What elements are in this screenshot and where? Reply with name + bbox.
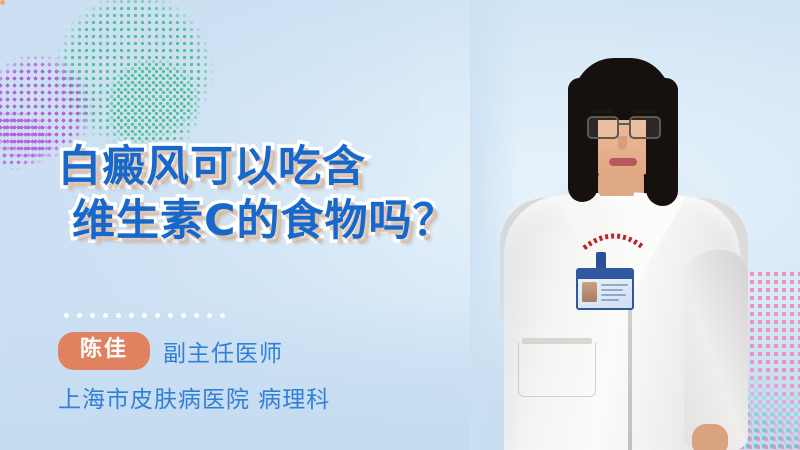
id-badge-text-lines xyxy=(601,284,628,304)
hand xyxy=(692,424,728,450)
orange-accent-dot-icon xyxy=(0,0,5,5)
separator-dot xyxy=(220,313,225,318)
glasses-icon xyxy=(586,116,658,136)
glasses-bridge xyxy=(617,123,629,125)
separator-dot xyxy=(90,313,95,318)
coat-lapel-right xyxy=(626,192,686,307)
eyebrow-right xyxy=(634,110,656,113)
coat-emblem-icon xyxy=(582,228,646,250)
separator-dot xyxy=(129,313,134,318)
doctor-rank-label: 副主任医师 xyxy=(163,334,283,368)
separator-dot xyxy=(194,313,199,318)
title-block: 白癜风可以吃含 维生素C的食物吗？ xyxy=(58,140,578,248)
title-line-1: 白癜风可以吃含 xyxy=(58,140,578,194)
thumbnail-canvas: 白癜风可以吃含 维生素C的食物吗？ 陈佳 副主任医师 上海市皮肤病医院 病理科 xyxy=(0,0,800,450)
doctor-name-badge: 陈佳 xyxy=(58,332,150,370)
id-badge-photo xyxy=(582,282,597,302)
id-badge xyxy=(576,268,634,310)
dotted-separator xyxy=(64,313,225,318)
glasses-lens-right xyxy=(629,116,661,139)
id-badge-header xyxy=(578,270,632,279)
separator-dot xyxy=(142,313,147,318)
coat-pocket xyxy=(518,342,596,397)
separator-dot xyxy=(103,313,108,318)
eyebrow-left xyxy=(590,110,612,113)
separator-dot xyxy=(116,313,121,318)
nose xyxy=(618,136,627,150)
glasses-lens-left xyxy=(587,116,619,139)
separator-dot xyxy=(77,313,82,318)
separator-dot xyxy=(64,313,69,318)
doctor-credit: 陈佳 副主任医师 上海市皮肤病医院 病理科 xyxy=(58,332,488,414)
separator-dot xyxy=(155,313,160,318)
purple-halftone-blob-lobe-icon xyxy=(0,110,62,180)
coat-sleeve-right xyxy=(684,250,748,450)
hair-side-right xyxy=(646,78,678,206)
separator-dot xyxy=(181,313,186,318)
mouth xyxy=(609,158,637,166)
doctor-credit-primary-row: 陈佳 副主任医师 xyxy=(58,332,488,370)
separator-dot xyxy=(168,313,173,318)
title-line-2: 维生素C的食物吗？ xyxy=(58,194,578,248)
doctor-affiliation-label: 上海市皮肤病医院 病理科 xyxy=(58,380,488,414)
separator-dot xyxy=(207,313,212,318)
